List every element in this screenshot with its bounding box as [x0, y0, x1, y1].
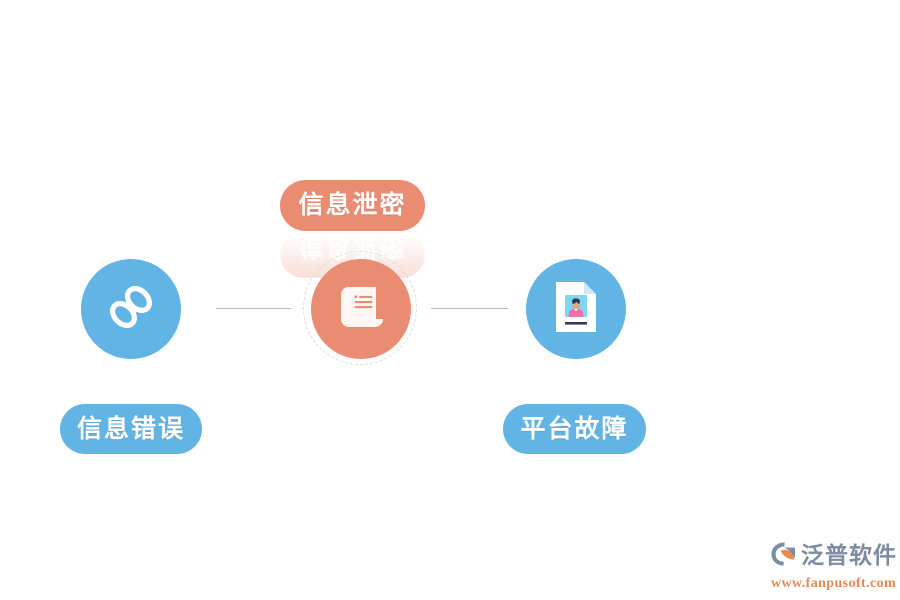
center-label-pill[interactable]: 信息泄密 [280, 180, 425, 231]
center-label-text: 信息泄密 [298, 193, 406, 218]
node-right-circle[interactable] [526, 259, 626, 359]
watermark-company-name: 泛普软件 [801, 545, 897, 568]
fanpu-logo-mark-icon [770, 541, 797, 572]
node-right-label-text: 平台故障 [520, 417, 628, 442]
node-center-circle[interactable] [311, 259, 411, 359]
node-left-label-text: 信息错误 [77, 417, 185, 442]
watermark-logo: 泛普软件 www.fanpusoft.com [770, 541, 897, 592]
id-card-document-icon [550, 279, 602, 340]
connector-center-to-right [431, 308, 508, 309]
scroll-document-icon [334, 280, 388, 339]
diagram-canvas: 信息泄密 信息泄密 [0, 0, 900, 600]
watermark-url: www.fanpusoft.com [771, 576, 896, 592]
node-left-circle[interactable] [81, 259, 181, 359]
node-right-label-pill[interactable]: 平台故障 [503, 404, 646, 454]
node-left-label-pill[interactable]: 信息错误 [60, 404, 202, 454]
watermark-logo-row: 泛普软件 [770, 541, 897, 572]
connector-left-to-center [216, 308, 291, 309]
chain-link-icon [103, 279, 159, 340]
